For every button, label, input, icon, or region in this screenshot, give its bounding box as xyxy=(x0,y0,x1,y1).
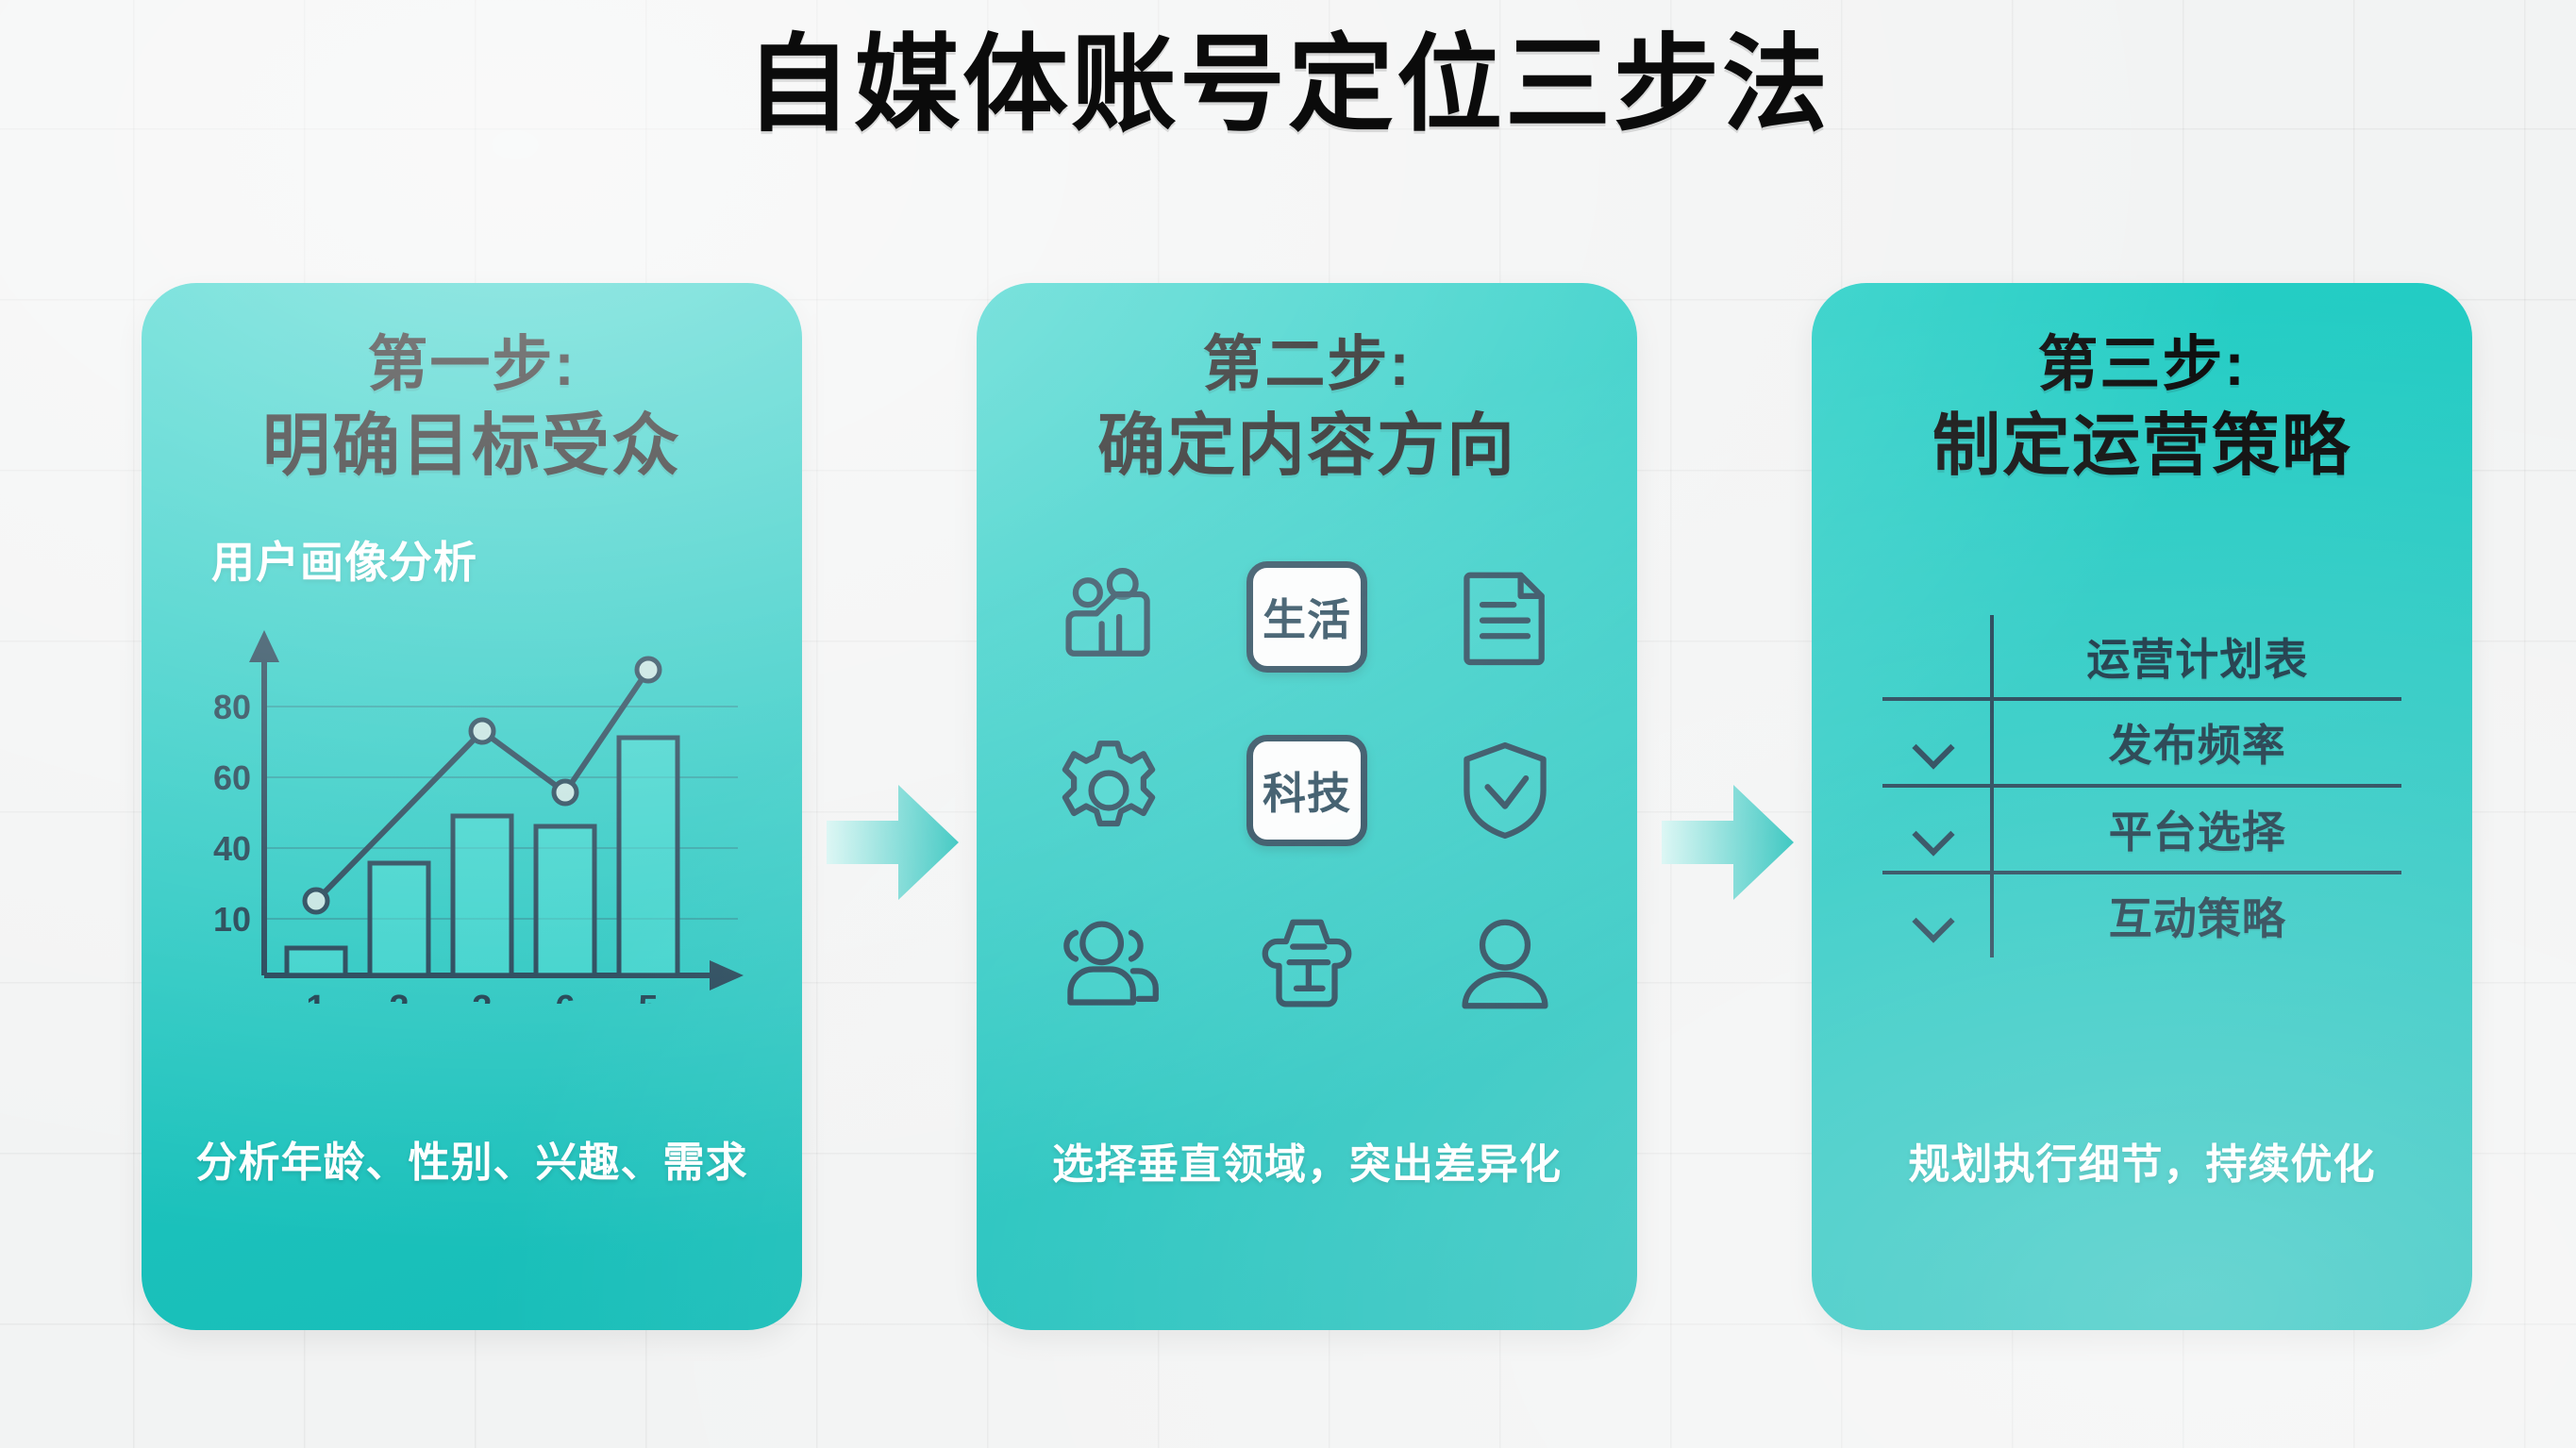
chart-svg: 10 40 60 80 xyxy=(183,607,768,1004)
table-row[interactable]: 互动策略 xyxy=(1881,873,2404,959)
svg-text:1: 1 xyxy=(306,989,326,1004)
card-1-step-label: 第一步: xyxy=(262,326,681,404)
chevron-down-icon[interactable] xyxy=(1915,907,1958,931)
svg-text:3: 3 xyxy=(472,989,492,1004)
card-3-body: 运营计划表 发布频率 平台选择 xyxy=(1836,490,2448,1130)
chart-caption: 用户画像分析 xyxy=(211,528,761,591)
table-header-label: 运营计划表 xyxy=(1992,612,2404,699)
card-3-step-label: 第三步: xyxy=(1932,326,2351,404)
y-tick-labels: 10 40 60 80 xyxy=(213,688,251,939)
x-axis-arrowhead xyxy=(710,960,744,990)
tag-chip-tech: 科技 xyxy=(1246,729,1368,852)
svg-text:5: 5 xyxy=(638,989,658,1004)
row-2-label[interactable]: 平台选择 xyxy=(1992,786,2404,873)
card-3-footer: 规划执行细节，持续优化 xyxy=(1836,1130,2448,1330)
table-row[interactable]: 发布频率 xyxy=(1881,699,2404,786)
card-1-body: 用户画像分析 xyxy=(166,490,778,1128)
table-header-row: 运营计划表 xyxy=(1881,612,2404,699)
step-card-1: 第一步: 明确目标受众 用户画像分析 xyxy=(142,283,802,1330)
tag-chip-life-label: 生活 xyxy=(1246,561,1367,673)
page-title: 自媒体账号定位三步法 xyxy=(0,23,2576,147)
content-direction-icon-grid: 生活 xyxy=(1029,546,1585,1035)
chevron-down-icon[interactable] xyxy=(1915,733,1958,757)
group-people-icon xyxy=(1047,903,1170,1025)
row-3-label[interactable]: 互动策略 xyxy=(1992,873,2404,959)
svg-text:60: 60 xyxy=(213,758,251,797)
card-2-step-label: 第二步: xyxy=(1097,326,1516,404)
shield-check-icon xyxy=(1444,729,1566,852)
person-chart-icon xyxy=(1047,556,1170,678)
step-card-3: 第三步: 制定运营策略 运营计划表 发布频率 xyxy=(1812,283,2472,1330)
table-row[interactable]: 平台选择 xyxy=(1881,786,2404,873)
card-1-step-title: 明确目标受众 xyxy=(262,404,681,490)
card-1-heading: 第一步: 明确目标受众 xyxy=(262,326,681,490)
single-user-icon xyxy=(1444,903,1566,1025)
y-axis-arrowhead xyxy=(249,630,279,662)
card-2-footer: 选择垂直领域，突出差异化 xyxy=(1001,1130,1613,1330)
step-card-2: 第二步: 确定内容方向 生活 xyxy=(977,283,1637,1330)
svg-text:10: 10 xyxy=(213,900,251,939)
flow-arrow-2-to-3 xyxy=(1662,781,1794,904)
svg-text:2: 2 xyxy=(389,989,409,1004)
card-2-step-title: 确定内容方向 xyxy=(1097,404,1516,490)
chart-bars xyxy=(287,738,677,975)
badge-glyph-icon xyxy=(1246,903,1368,1025)
row-3-chevron-cell[interactable] xyxy=(1881,873,1992,959)
x-tick-labels: 1 2 3 6 5 xyxy=(306,989,658,1004)
svg-text:80: 80 xyxy=(213,688,251,726)
operation-plan-table: 运营计划表 发布频率 平台选择 xyxy=(1878,610,2406,962)
card-3-heading: 第三步: 制定运营策略 xyxy=(1932,326,2351,490)
gear-icon xyxy=(1047,729,1170,852)
row-1-label[interactable]: 发布频率 xyxy=(1992,699,2404,786)
tag-chip-tech-label: 科技 xyxy=(1246,735,1367,846)
chevron-down-icon[interactable] xyxy=(1915,820,1958,844)
card-2-heading: 第二步: 确定内容方向 xyxy=(1097,326,1516,490)
svg-text:6: 6 xyxy=(555,989,575,1004)
row-2-chevron-cell[interactable] xyxy=(1881,786,1992,873)
card-3-step-title: 制定运营策略 xyxy=(1932,404,2351,490)
row-1-chevron-cell[interactable] xyxy=(1881,699,1992,786)
card-2-body: 生活 xyxy=(1001,490,1613,1130)
card-1-footer: 分析年龄、性别、兴趣、需求 xyxy=(166,1128,778,1330)
svg-text:40: 40 xyxy=(213,829,251,868)
header-gutter-cell xyxy=(1881,612,1992,699)
tag-chip-life: 生活 xyxy=(1246,556,1368,678)
infographic-canvas: 自媒体账号定位三步法 第一步: 明确目标受众 用户画像分析 xyxy=(0,0,2576,1448)
document-icon xyxy=(1444,556,1566,678)
flow-arrow-1-to-2 xyxy=(827,781,959,904)
user-profile-chart: 用户画像分析 xyxy=(166,528,778,1004)
